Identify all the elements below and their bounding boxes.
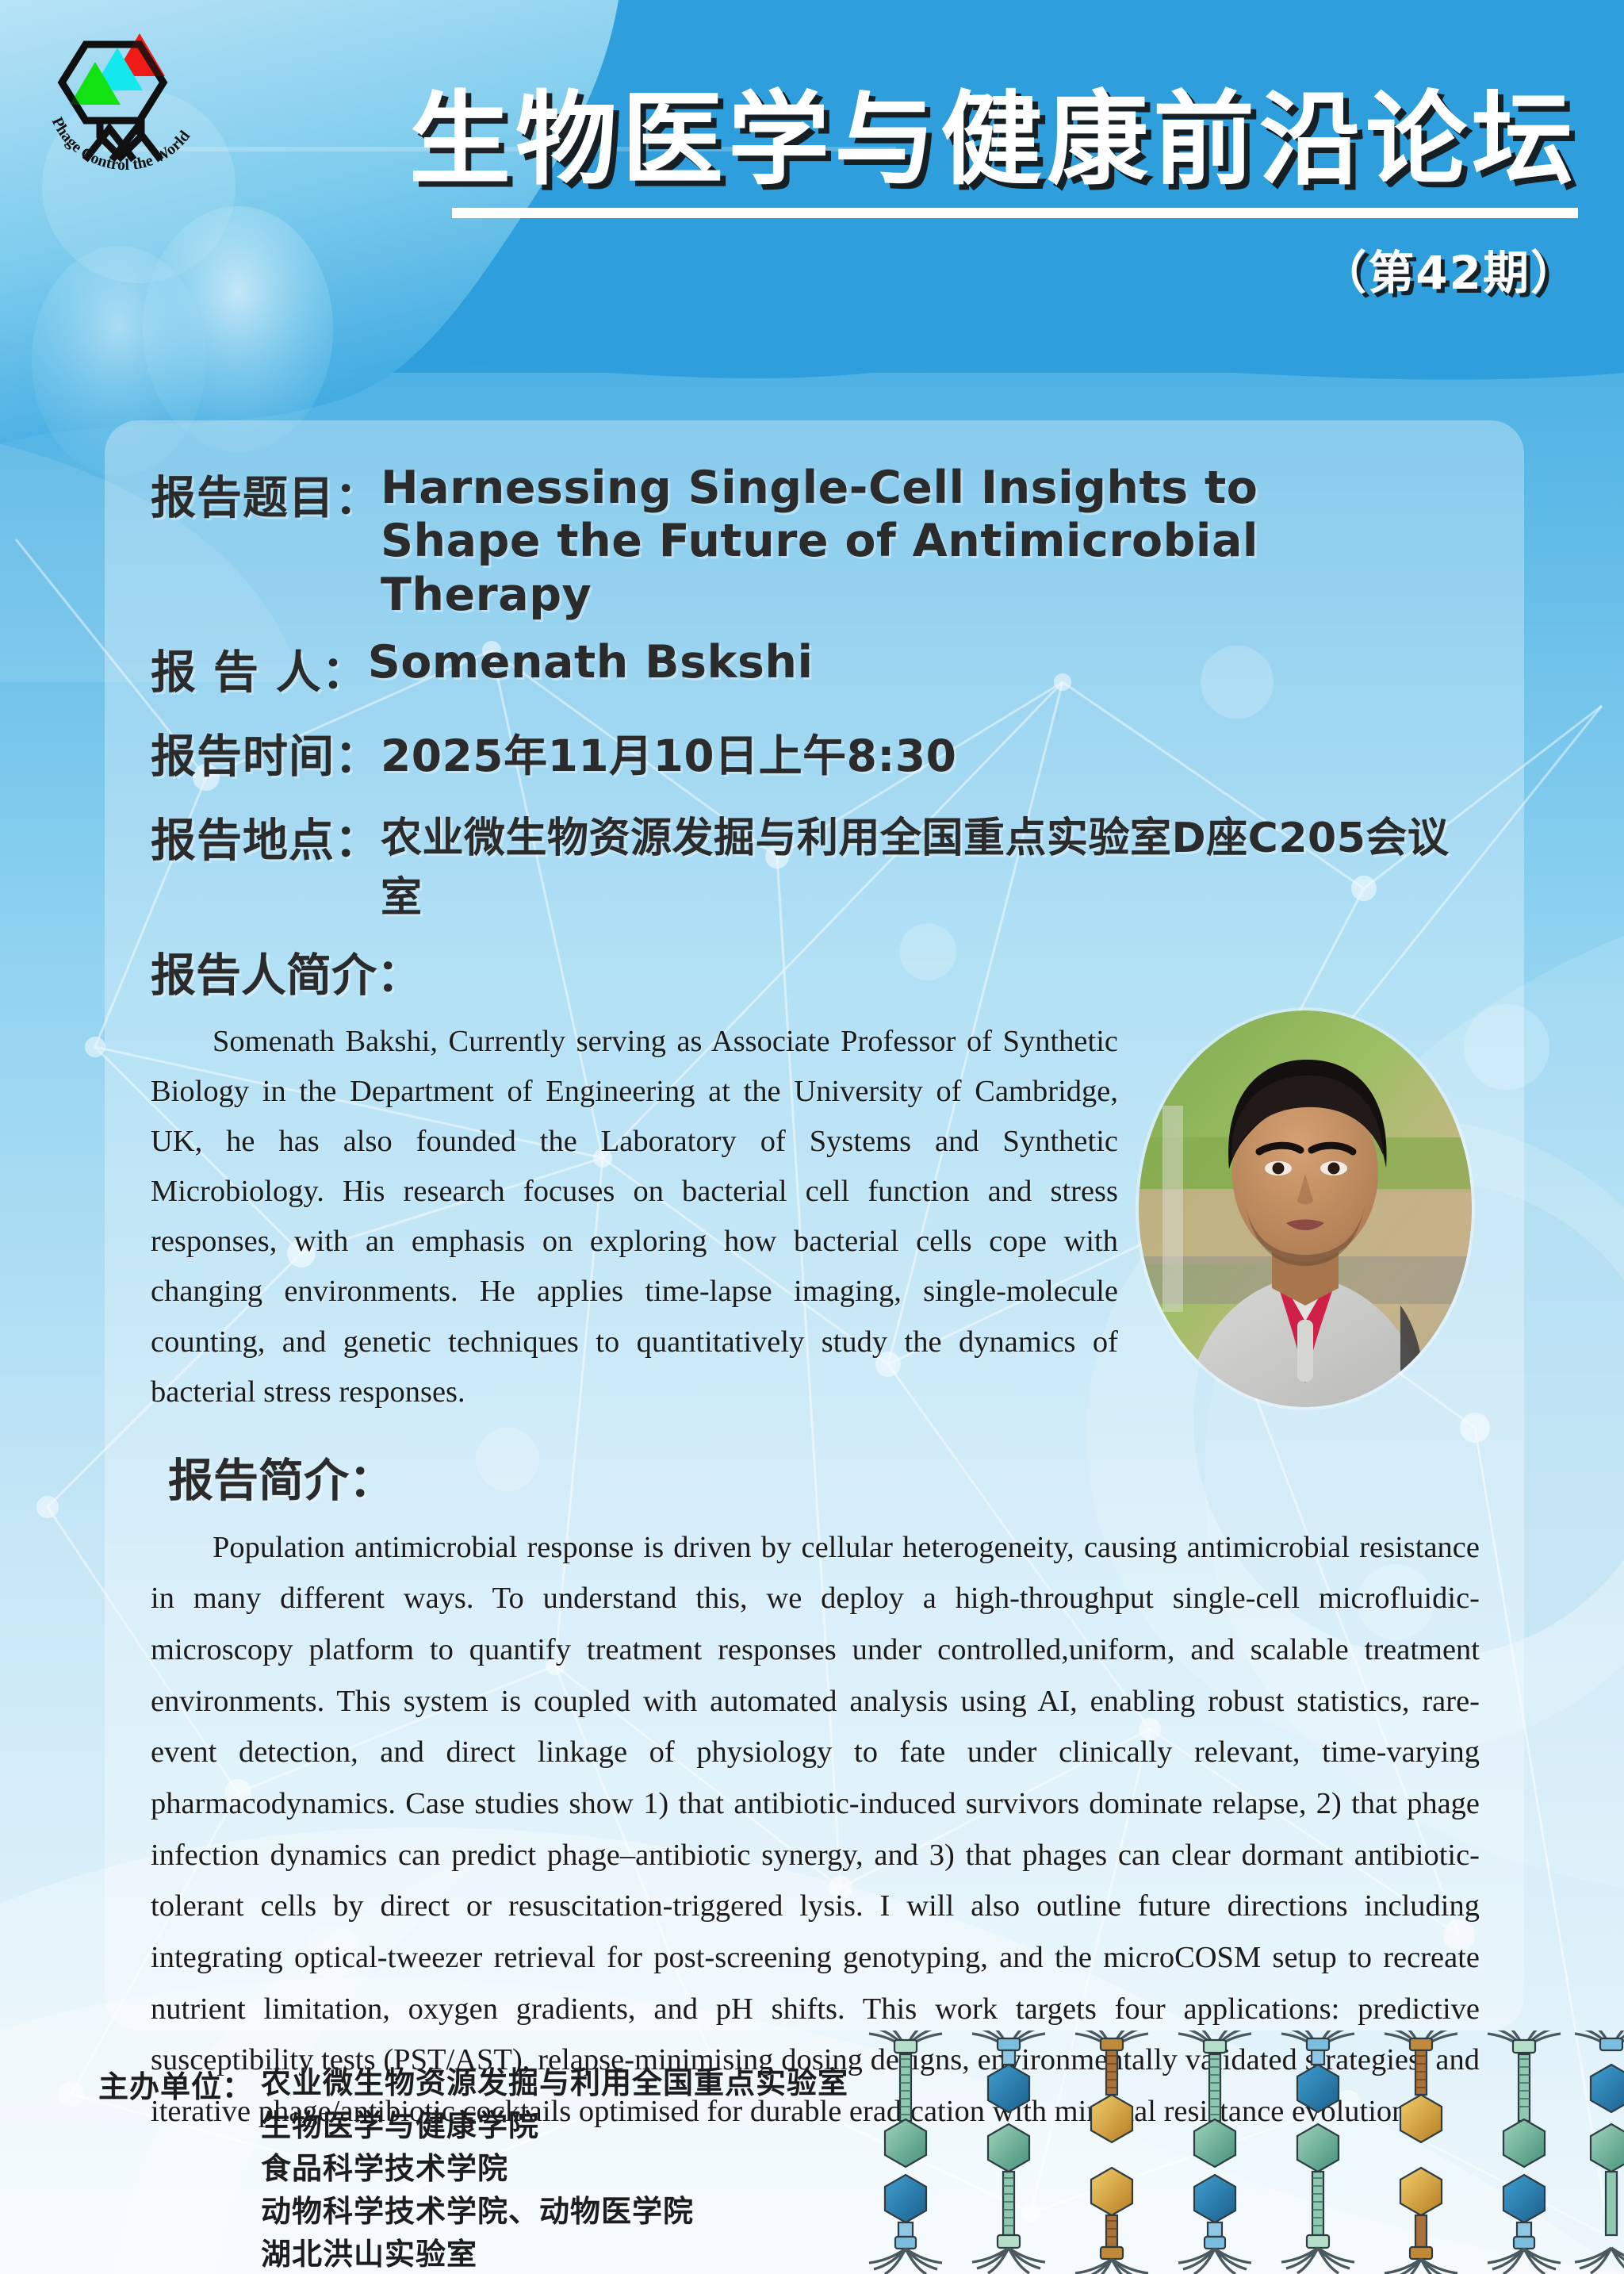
abstract-heading: 报告简介： bbox=[168, 1444, 1478, 1509]
organizer-item: 湖北洪山实验室 bbox=[261, 2234, 848, 2274]
organizer-item: 食品科学技术学院 bbox=[261, 2148, 848, 2191]
time-row: 报告时间： 2025年11月10日上午8:30 bbox=[151, 720, 1478, 785]
venue-value: 农业微生物资源发掘与利用全国重点实验室D座C205会议室 bbox=[381, 804, 1478, 923]
issue-number: （第42期） bbox=[262, 236, 1578, 302]
time-label: 报告时间： bbox=[151, 720, 381, 785]
organizer-label: 主办单位： bbox=[98, 2062, 253, 2106]
bio-heading: 报告人简介： bbox=[151, 939, 1478, 1004]
title-underline bbox=[452, 208, 1578, 218]
organizers-block: 主办单位： 农业微生物资源发掘与利用全国重点实验室 生物医学与健康学院 食品科学… bbox=[98, 2062, 848, 2274]
content-card: 报告题目： Harnessing Single-Cell Insights to… bbox=[105, 420, 1524, 2030]
poster-root: Phage Control the World 生物医学与健康前沿论坛 （第42… bbox=[0, 0, 1624, 2274]
venue-label: 报告地点： bbox=[151, 804, 381, 869]
talk-title-row: 报告题目： Harnessing Single-Cell Insights to… bbox=[151, 462, 1478, 622]
speaker-value: Somenath Bskshi bbox=[368, 636, 814, 688]
page-title: 生物医学与健康前沿论坛 bbox=[262, 87, 1578, 194]
time-value: 2025年11月10日上午8:30 bbox=[381, 720, 956, 784]
organizer-item: 农业微生物资源发掘与利用全国重点实验室 bbox=[261, 2062, 848, 2105]
organizer-list: 农业微生物资源发掘与利用全国重点实验室 生物医学与健康学院 食品科学技术学院 动… bbox=[261, 2062, 848, 2274]
poster-header: Phage Control the World 生物医学与健康前沿论坛 （第42… bbox=[0, 0, 1624, 420]
speaker-label: 报 告 人： bbox=[151, 636, 368, 701]
speaker-portrait bbox=[1139, 1010, 1472, 1407]
organizer-item: 动物科学技术学院、动物医学院 bbox=[261, 2191, 848, 2234]
bio-text: Somenath Bakshi, Currently serving as As… bbox=[151, 1017, 1118, 1417]
organizer-item: 生物医学与健康学院 bbox=[261, 2105, 848, 2148]
poster-footer: 主办单位： 农业微生物资源发掘与利用全国重点实验室 生物医学与健康学院 食品科学… bbox=[0, 2030, 1624, 2274]
talk-title-label: 报告题目： bbox=[151, 462, 381, 527]
bacteriophage-illustration bbox=[856, 2030, 1624, 2274]
talk-title-value: Harnessing Single-Cell Insights to Shape… bbox=[381, 462, 1404, 622]
phage-control-logo: Phage Control the World bbox=[38, 10, 213, 184]
venue-row: 报告地点： 农业微生物资源发掘与利用全国重点实验室D座C205会议室 bbox=[151, 804, 1478, 923]
bio-block: Somenath Bakshi, Currently serving as As… bbox=[151, 1017, 1478, 1417]
speaker-row: 报 告 人： Somenath Bskshi bbox=[151, 636, 1478, 701]
